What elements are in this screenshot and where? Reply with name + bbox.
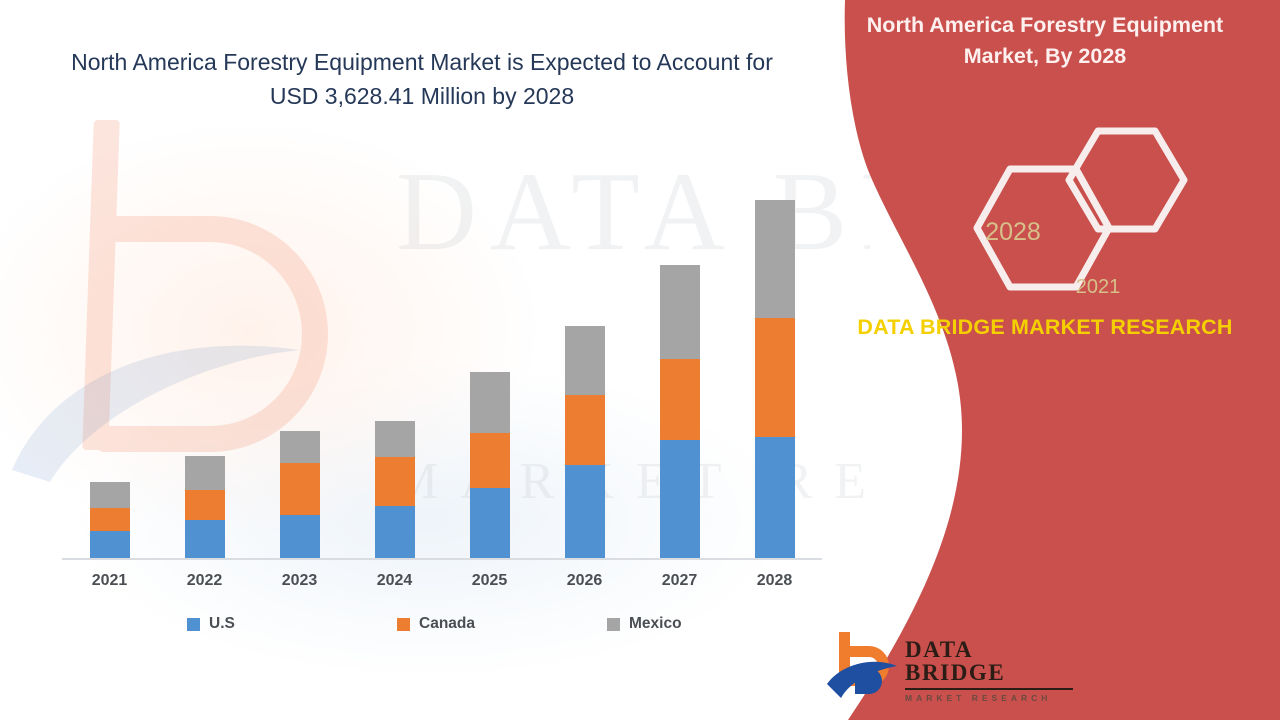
- bar-segment-us[interactable]: [90, 531, 130, 558]
- bar-segment-us[interactable]: [375, 506, 415, 558]
- legend-item-us[interactable]: U.S: [187, 615, 235, 633]
- bar-segment-mexico[interactable]: [280, 431, 320, 463]
- bar-segment-mexico[interactable]: [90, 482, 130, 508]
- footer-logo-name: DATA BRIDGE: [905, 638, 1075, 684]
- legend-swatch-icon: [607, 618, 620, 631]
- bar-segment-us[interactable]: [660, 440, 700, 558]
- bar-segment-mexico[interactable]: [470, 372, 510, 433]
- bar-segment-canada[interactable]: [755, 318, 795, 437]
- bar-segment-us[interactable]: [470, 488, 510, 558]
- bar-segment-mexico[interactable]: [660, 265, 700, 359]
- x-axis-label-2021: 2021: [70, 572, 150, 590]
- bar-segment-mexico[interactable]: [185, 456, 225, 490]
- bar-segment-canada[interactable]: [90, 508, 130, 531]
- bar-group[interactable]: [280, 431, 320, 558]
- legend-swatch-icon: [187, 618, 200, 631]
- x-axis-label-2026: 2026: [545, 572, 625, 590]
- footer-logo-mark-icon: [825, 630, 901, 702]
- bar-segment-us[interactable]: [185, 520, 225, 558]
- bar-segment-us[interactable]: [565, 465, 605, 558]
- bar-group[interactable]: [470, 372, 510, 558]
- bar-segment-canada[interactable]: [280, 463, 320, 515]
- legend-swatch-icon: [397, 618, 410, 631]
- bar-segment-us[interactable]: [755, 437, 795, 558]
- x-axis-labels: 20212022202320242025202620272028: [62, 572, 822, 600]
- legend-item-mexico[interactable]: Mexico: [607, 615, 682, 633]
- x-axis-label-2023: 2023: [260, 572, 340, 590]
- x-axis-label-2028: 2028: [735, 572, 815, 590]
- x-axis-line: [62, 558, 822, 560]
- footer-logo: DATA BRIDGE MARKET RESEARCH: [825, 628, 1075, 704]
- bar-segment-canada[interactable]: [375, 457, 415, 506]
- hexagon-shapes-icon: [810, 118, 1280, 308]
- bar-segment-mexico[interactable]: [375, 421, 415, 457]
- x-axis-label-2022: 2022: [165, 572, 245, 590]
- chart-panel: DATA BRIDGE MARKET RESEARCH North Americ…: [0, 0, 870, 720]
- footer-logo-rule: [905, 688, 1073, 690]
- x-axis-label-2027: 2027: [640, 572, 720, 590]
- legend-label: Mexico: [629, 615, 682, 633]
- bar-group[interactable]: [755, 200, 795, 558]
- bar-segment-canada[interactable]: [660, 359, 700, 440]
- brand-name: DATA BRIDGE MARKET RESEARCH: [830, 312, 1260, 344]
- page-title: North America Forestry Equipment Market …: [62, 46, 782, 113]
- bar-segment-mexico[interactable]: [565, 326, 605, 395]
- hexagon-badges: 2021 2028: [810, 118, 1280, 308]
- bar-chart-plot: [62, 192, 822, 560]
- brand-panel: North America Forestry Equipment Market,…: [810, 0, 1280, 720]
- bar-segment-canada[interactable]: [565, 395, 605, 465]
- legend-label: U.S: [209, 615, 235, 633]
- x-axis-label-2025: 2025: [450, 572, 530, 590]
- bar-segment-us[interactable]: [280, 515, 320, 558]
- bar-segment-canada[interactable]: [185, 490, 225, 520]
- legend-item-canada[interactable]: Canada: [397, 615, 475, 633]
- panel-title: North America Forestry Equipment Market,…: [838, 10, 1252, 71]
- footer-logo-text: DATA BRIDGE MARKET RESEARCH: [905, 638, 1075, 703]
- bar-group[interactable]: [375, 421, 415, 558]
- bar-group[interactable]: [565, 326, 605, 558]
- legend-label: Canada: [419, 615, 475, 633]
- bar-group[interactable]: [185, 456, 225, 558]
- bar-segment-mexico[interactable]: [755, 200, 795, 318]
- x-axis-label-2024: 2024: [355, 572, 435, 590]
- footer-logo-tagline: MARKET RESEARCH: [905, 693, 1075, 703]
- chart-legend: U.SCanadaMexico: [62, 615, 822, 645]
- bar-segment-canada[interactable]: [470, 433, 510, 488]
- bar-group[interactable]: [90, 482, 130, 558]
- red-panel-shape: [810, 0, 1280, 720]
- bar-group[interactable]: [660, 265, 700, 558]
